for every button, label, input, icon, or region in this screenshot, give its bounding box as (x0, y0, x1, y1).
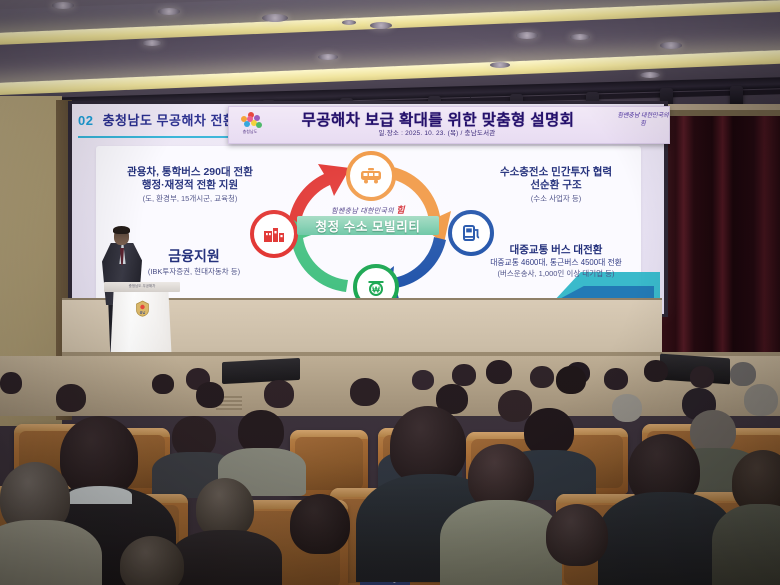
block-line2: 대중교통 4600대, 통근버스 4500대 전환 (468, 258, 644, 268)
downlight-icon (660, 42, 682, 49)
audience-shoulders (712, 504, 780, 585)
audience-head (730, 362, 756, 386)
building-icon (263, 225, 285, 243)
audience-head (152, 374, 174, 394)
audience-head (390, 406, 466, 484)
downlight-icon (490, 62, 510, 68)
bus-icon (359, 167, 383, 185)
text-block-top-left: 관용차, 통학버스 290대 전환 행정·재정적 전환 지원 (도, 환경부, … (100, 166, 280, 203)
audience-head (120, 536, 184, 585)
audience-head (524, 408, 574, 456)
text-block-top-right: 수소충전소 민간투자 협력 선순환 구조 (수소 사업자 등) (472, 166, 640, 203)
presenter-hair (113, 226, 130, 234)
audience-shoulders (440, 500, 562, 585)
downlight-icon (318, 54, 338, 60)
center-slogan-text: 힘쎈충남 대한민국의 (331, 208, 394, 215)
audience-head (486, 360, 512, 384)
block-line1: 관용차, 통학버스 290대 전환 (100, 166, 280, 179)
audience-head (264, 380, 294, 408)
province-logo: 충청남도 (236, 110, 264, 138)
node-bus (346, 151, 396, 201)
text-block-bottom-right: 대중교통 버스 대전환 대중교통 4600대, 통근버스 4500대 전환 (버… (468, 244, 644, 279)
audience-head (350, 378, 380, 406)
downlight-icon (52, 2, 74, 9)
downlight-icon (570, 34, 590, 40)
banner-slogan: 힘쎈충남 대한민국의 힘 (616, 112, 670, 128)
audience-head (498, 390, 532, 422)
audience-head (196, 478, 254, 538)
block-line1: 수소충전소 민간투자 협력 (472, 166, 640, 179)
podium-emblem-icon: 충남 (134, 300, 150, 318)
audience-head (452, 364, 476, 386)
block-note: (버스운송사, 1,000인 이상 대기업 등) (468, 269, 644, 279)
downlight-icon (516, 32, 538, 39)
audience-head (546, 504, 608, 566)
audience-head (412, 370, 434, 390)
audience-head (744, 384, 778, 416)
audience-head (196, 382, 224, 408)
fuel-pump-icon (461, 223, 481, 243)
center-pill-label: 청정 수소 모빌리티 (297, 216, 439, 235)
downlight-icon (158, 8, 180, 15)
audience-head (690, 366, 714, 388)
svg-text:충남: 충남 (139, 309, 145, 314)
banner-subtitle: 일.장소 : 2025. 10. 23. (목) / 충남도서관 (262, 127, 612, 137)
svg-text:₩: ₩ (372, 285, 380, 294)
audience-head (56, 384, 86, 412)
downlight-icon (370, 22, 392, 29)
audience-shoulders (170, 530, 282, 585)
stage-curtain (655, 116, 780, 392)
block-line1: 대중교통 버스 대전환 (468, 244, 644, 257)
audience-head (604, 368, 628, 390)
audience-head (644, 360, 668, 382)
won-coin-icon: ₩ (366, 277, 386, 297)
audience-collar (68, 486, 132, 504)
audience-head (0, 372, 22, 394)
center-handwritten-slogan: 힘쎈충남 대한민국의 힘 (293, 203, 443, 216)
downlight-icon (262, 14, 288, 22)
audience-head (612, 394, 642, 422)
auditorium-photo: 02 충청남도 무공해차 전환 (0, 0, 780, 585)
slide-header-number: 02 (78, 113, 93, 128)
audience-area (0, 358, 780, 585)
center-pill-text: 청정 수소 모빌리티 (316, 216, 421, 235)
block-note: (수소 사업자 등) (472, 194, 640, 204)
province-logo-caption: 충청남도 (236, 129, 264, 135)
downlight-icon (342, 20, 356, 25)
podium-nameplate: 충청남도 무공해차 (120, 284, 164, 289)
center-slogan-accent: 힘 (396, 205, 405, 215)
block-note: (도, 환경부, 15개시군, 교육청) (100, 194, 280, 204)
logo-dots-icon (241, 112, 261, 128)
slide-header-title: 충청남도 무공해차 전환 (103, 113, 236, 128)
audience-head (556, 366, 586, 394)
downlight-icon (640, 72, 660, 78)
block-line2: 선순환 구조 (472, 179, 640, 192)
downlight-icon (142, 40, 162, 46)
block-line2: 행정·재정적 전환 지원 (100, 179, 280, 192)
audience-head (530, 366, 554, 388)
audience-head (60, 416, 138, 496)
audience-head (290, 494, 350, 554)
